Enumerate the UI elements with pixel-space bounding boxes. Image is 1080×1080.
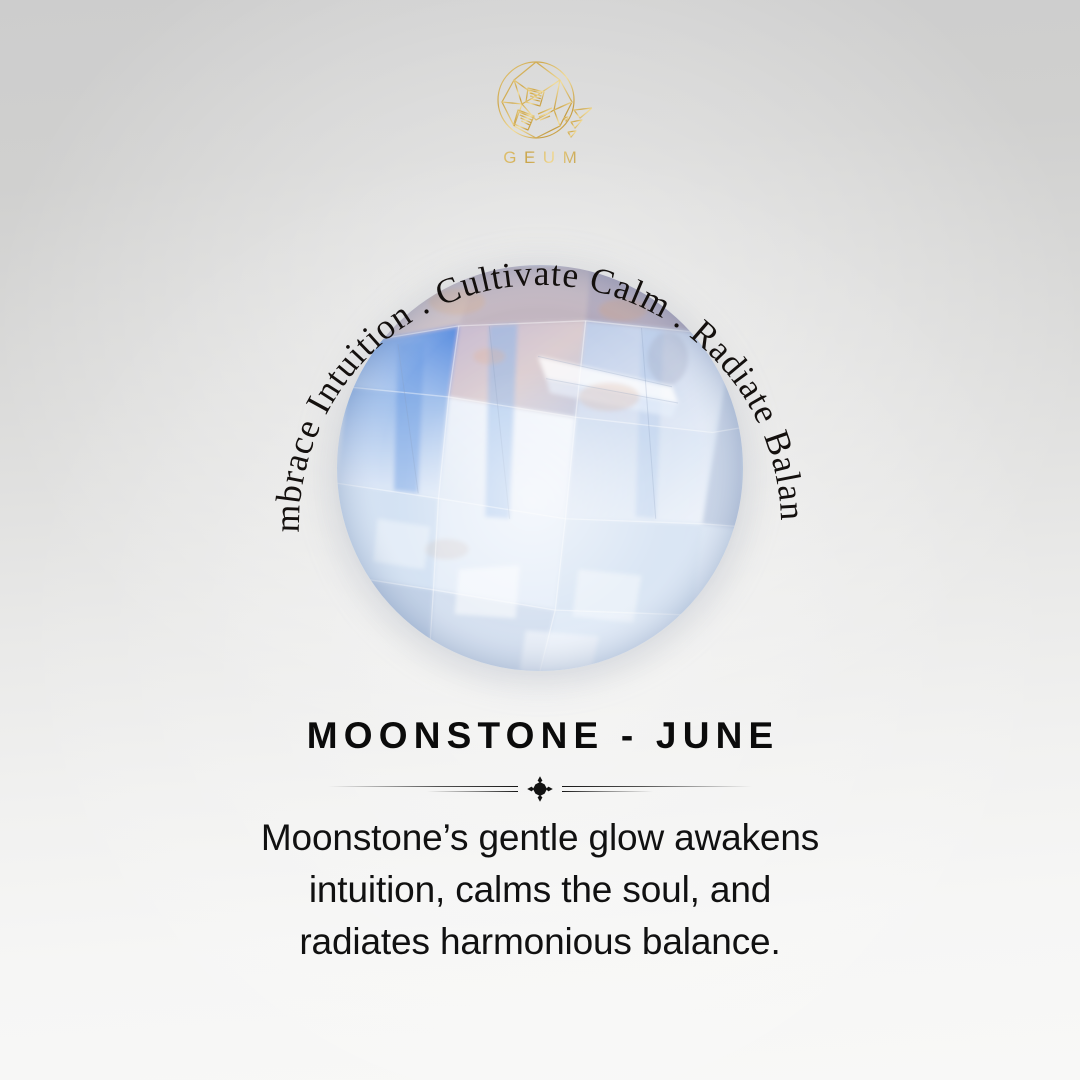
ornamental-divider [328,773,752,805]
gem-container [337,265,743,671]
divider-rule-left [328,785,518,794]
brand-wordmark: GEUM [496,148,585,168]
page-title: MOONSTONE - JUNE [0,716,1080,757]
faceted-gem-circle-icon [488,58,592,144]
quatrefoil-ornament-icon [523,774,557,804]
description-line-3: radiates harmonious balance. [220,916,860,968]
brand-logo[interactable]: GEUM [0,58,1080,168]
moonstone-gem-image [337,265,743,671]
description-text: Moonstone’s gentle glow awakens intuitio… [220,812,860,968]
description-line-2: intuition, calms the soul, and [220,864,860,916]
description-line-1: Moonstone’s gentle glow awakens [220,812,860,864]
gemstone-promo-card: GEUM [0,0,1080,1080]
divider-rule-right [562,785,752,794]
